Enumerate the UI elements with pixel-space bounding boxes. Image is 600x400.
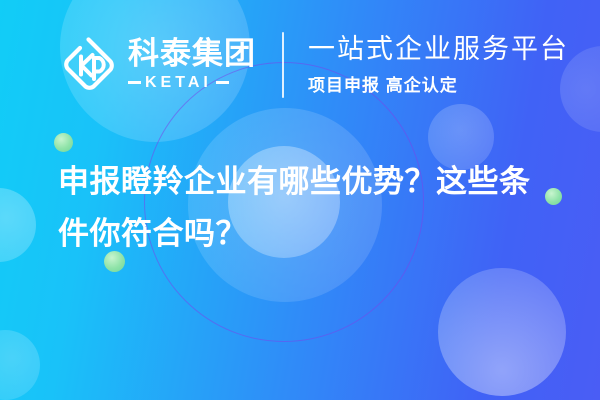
headline-line-2: 件你符合吗？ <box>58 208 570 260</box>
decorative-circle-top-left <box>0 188 36 262</box>
decorative-dot-green-1 <box>54 133 73 152</box>
wordmark-dash-right <box>216 81 229 84</box>
promo-banner: 科泰集团 KETAI 一站式企业服务平台 项目申报 高企认定 申报瞪羚企业有哪些… <box>0 0 600 400</box>
brand-name-cn: 科泰集团 <box>128 38 256 71</box>
banner-header: 科泰集团 KETAI 一站式企业服务平台 项目申报 高企认定 <box>0 0 600 130</box>
wordmark-dash-left <box>128 81 141 84</box>
ketai-kp-monogram-icon <box>58 34 120 96</box>
brand-wordmark: 科泰集团 KETAI <box>128 38 256 92</box>
header-divider <box>282 32 284 98</box>
tagline-sub: 项目申报 高企认定 <box>308 71 569 96</box>
brand-name-en: KETAI <box>145 74 212 92</box>
tagline-main: 一站式企业服务平台 <box>308 34 569 65</box>
brand-name-en-row: KETAI <box>128 74 256 92</box>
brand-tagline: 一站式企业服务平台 项目申报 高企认定 <box>308 34 569 96</box>
brand-logo: 科泰集团 KETAI <box>58 34 256 96</box>
decorative-circle-bottom-left <box>0 330 40 400</box>
banner-headline: 申报瞪羚企业有哪些优势？这些条 件你符合吗？ <box>58 156 570 260</box>
headline-line-1: 申报瞪羚企业有哪些优势？这些条 <box>58 156 570 208</box>
decorative-circle-lower-right <box>438 268 566 396</box>
